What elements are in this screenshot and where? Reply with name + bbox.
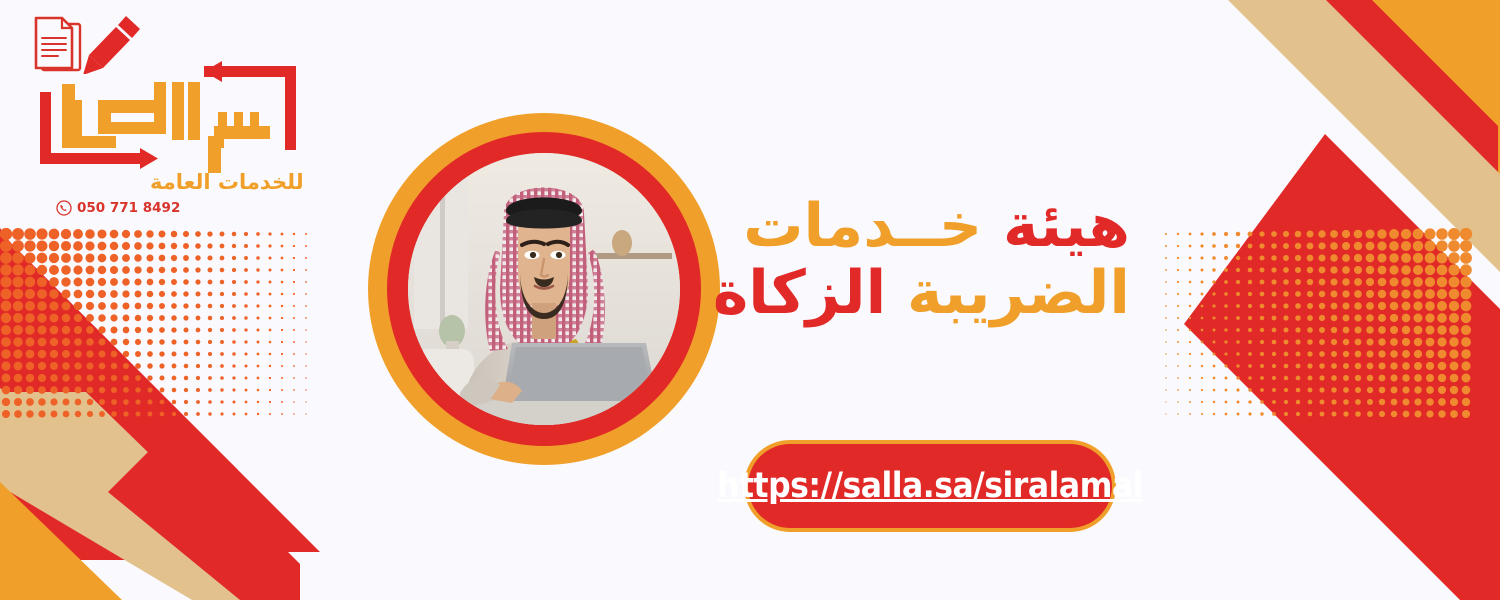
- logo-tagline: للخدمات العامة: [150, 170, 304, 194]
- logo-phone-number: 050 771 8492: [77, 200, 180, 216]
- orange-corner-block-bottom-left: [0, 482, 122, 600]
- halftone-dot-field-right: [1160, 228, 1480, 418]
- orange-corner-block-top-right: [1320, 0, 1500, 160]
- portrait-photo: [408, 153, 680, 425]
- headline-word-dariba: الضريبة: [907, 258, 1130, 328]
- orange-corner-triangle-top-right: [1432, 0, 1500, 180]
- headline-line-1: هيئة خــدمات: [700, 196, 1130, 257]
- logo-wordmark: [22, 60, 332, 175]
- headline-word-zakat: الزكاة: [713, 258, 886, 328]
- headline-word-khadamat: خــدمات: [743, 191, 982, 261]
- portrait-inner-ring: [387, 132, 701, 446]
- headline: هيئة خــدمات الضريبة الزكاة: [700, 196, 1130, 324]
- logo-phone[interactable]: 050 771 8492: [56, 200, 180, 216]
- tan-diagonal-band-bottom-left-2: [0, 392, 300, 600]
- orange-corner-triangle-bottom-left: [0, 490, 112, 600]
- halftone-dot-field-left: [0, 228, 318, 418]
- phone-icon: [56, 200, 72, 216]
- promotional-banner: للخدمات العامة 050 771 8492: [0, 0, 1500, 600]
- red-diagonal-bar-bottom-left-short: [108, 432, 300, 600]
- red-diagonal-bar-top-right-short: [1292, 0, 1498, 206]
- headline-line-2: الضريبة الزكاة: [700, 263, 1130, 324]
- portrait-outer-ring: [368, 113, 720, 465]
- headline-word-haya: هيئة: [1003, 191, 1130, 261]
- company-logo[interactable]: للخدمات العامة 050 771 8492: [22, 12, 342, 217]
- store-url-text: https://salla.sa/siralamal: [717, 466, 1143, 506]
- tan-diagonal-band-bottom-left: [0, 388, 288, 600]
- store-url-button[interactable]: https://salla.sa/siralamal: [744, 440, 1116, 532]
